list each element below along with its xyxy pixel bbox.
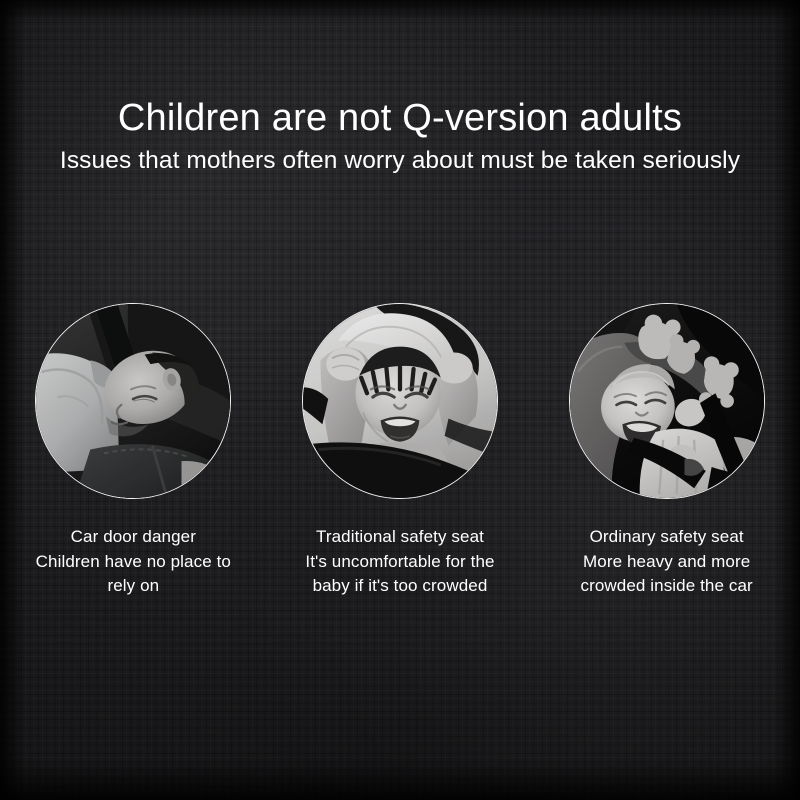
caption-line: Ordinary safety seat (542, 525, 792, 550)
feature-card-traditional-safety-seat: Traditional safety seat It's uncomfortab… (267, 303, 534, 599)
caption-line: More heavy and more (542, 550, 792, 575)
feature-card-caption: Ordinary safety seat More heavy and more… (542, 525, 792, 599)
heading-block: Children are not Q-version adults Issues… (0, 96, 800, 178)
caption-line: baby if it's too crowded (275, 574, 525, 599)
caption-line: Traditional safety seat (275, 525, 525, 550)
photo-sleeping-boy-in-car (35, 303, 231, 499)
photo-crying-baby-ordinary-seat (569, 303, 765, 499)
caption-line: rely on (8, 574, 258, 599)
feature-card-car-door-danger: Car door danger Children have no place t… (0, 303, 267, 599)
feature-card-caption: Car door danger Children have no place t… (8, 525, 258, 599)
caption-line: Children have no place to (8, 550, 258, 575)
feature-card-caption: Traditional safety seat It's uncomfortab… (275, 525, 525, 599)
caption-line: It's uncomfortable for the (275, 550, 525, 575)
caption-line: Car door danger (8, 525, 258, 550)
poster-subtitle: Issues that mothers often worry about mu… (0, 144, 800, 178)
photo-crying-toddler-traditional-seat (302, 303, 498, 499)
poster-title: Children are not Q-version adults (0, 96, 800, 140)
feature-card-ordinary-safety-seat: Ordinary safety seat More heavy and more… (533, 303, 800, 599)
poster-canvas: Children are not Q-version adults Issues… (0, 0, 800, 800)
caption-line: crowded inside the car (542, 574, 792, 599)
feature-cards-row: Car door danger Children have no place t… (0, 303, 800, 599)
